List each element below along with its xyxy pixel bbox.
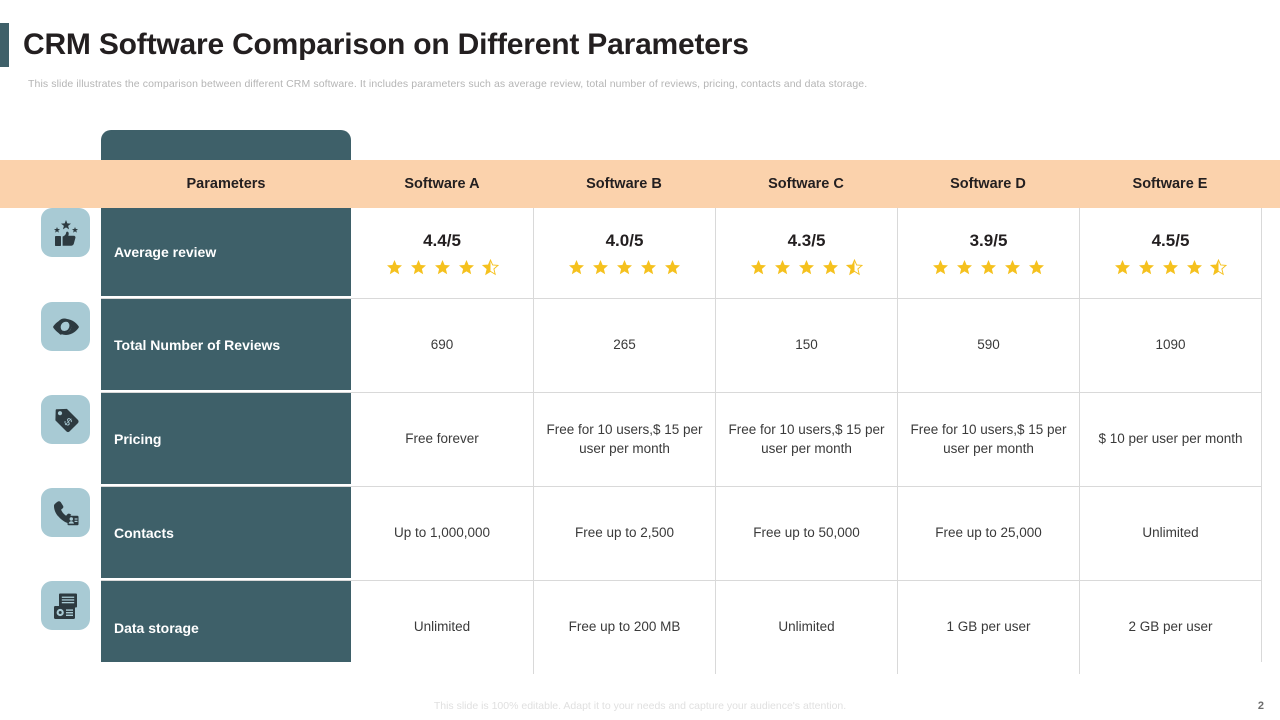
cell-total-reviews-c: 150 [715, 299, 897, 392]
cell-contacts-d: Free up to 25,000 [897, 487, 1079, 580]
title-accent-bar [0, 23, 9, 67]
star-rating [932, 259, 1045, 276]
table-row: Total Number of Reviews 690 265 150 590 … [101, 299, 1261, 393]
table-row: Average review 4.4/5 4.0/5 4.3/5 3.9/5 [101, 208, 1261, 299]
cell-data-storage-e: 2 GB per user [1079, 581, 1261, 674]
header-software-c: Software C [715, 176, 897, 192]
cell-average-review-b: 4.0/5 [533, 208, 715, 298]
cell-data-storage-c: Unlimited [715, 581, 897, 674]
table-right-border [1261, 208, 1262, 662]
score-value: 4.0/5 [606, 230, 644, 253]
cell-total-reviews-d: 590 [897, 299, 1079, 392]
star-rating [750, 259, 863, 276]
cell-data-storage-b: Free up to 200 MB [533, 581, 715, 674]
row-label-average-review: Average review [101, 208, 351, 298]
table-row: Pricing Free forever Free for 10 users,$… [101, 393, 1261, 487]
table-row: Data storage Unlimited Free up to 200 MB… [101, 581, 1261, 674]
score-value: 4.3/5 [788, 230, 826, 253]
document-storage-icon [41, 581, 90, 630]
score-value: 4.5/5 [1152, 230, 1190, 253]
page-title: CRM Software Comparison on Different Par… [0, 22, 1280, 68]
row-label-data-storage: Data storage [101, 581, 351, 674]
subtitle-text: This slide illustrates the comparison be… [28, 78, 1228, 90]
row-label-pricing: Pricing [101, 393, 351, 486]
cell-contacts-b: Free up to 2,500 [533, 487, 715, 580]
table-body: Average review 4.4/5 4.0/5 4.3/5 3.9/5 [101, 208, 1261, 674]
cell-average-review-d: 3.9/5 [897, 208, 1079, 298]
slide-root: CRM Software Comparison on Different Par… [0, 0, 1280, 720]
header-software-b: Software B [533, 176, 715, 192]
thumbs-up-stars-icon [41, 208, 90, 257]
price-tag-icon: $ [41, 395, 90, 444]
row-icon-column: $ [41, 208, 91, 674]
cell-contacts-e: Unlimited [1079, 487, 1261, 580]
cell-data-storage-d: 1 GB per user [897, 581, 1079, 674]
cell-contacts-c: Free up to 50,000 [715, 487, 897, 580]
cell-data-storage-a: Unlimited [351, 581, 533, 674]
table-row: Contacts Up to 1,000,000 Free up to 2,50… [101, 487, 1261, 581]
cell-total-reviews-e: 1090 [1079, 299, 1261, 392]
page-number: 2 [1258, 700, 1264, 712]
star-rating [386, 259, 499, 276]
cell-average-review-e: 4.5/5 [1079, 208, 1261, 298]
comparison-table: Parameters Software A Software B Softwar… [0, 130, 1280, 665]
cell-average-review-a: 4.4/5 [351, 208, 533, 298]
score-value: 4.4/5 [423, 230, 461, 253]
cell-pricing-a: Free forever [351, 393, 533, 486]
star-rating [1114, 259, 1227, 276]
eye-magnifier-icon [41, 302, 90, 351]
footer-note: This slide is 100% editable. Adapt it to… [0, 700, 1280, 712]
row-label-contacts: Contacts [101, 487, 351, 580]
header-software-d: Software D [897, 176, 1079, 192]
cell-total-reviews-b: 265 [533, 299, 715, 392]
cell-pricing-c: Free for 10 users,$ 15 per user per mont… [715, 393, 897, 486]
score-value: 3.9/5 [970, 230, 1008, 253]
cell-total-reviews-a: 690 [351, 299, 533, 392]
header-software-a: Software A [351, 176, 533, 192]
header-software-e: Software E [1079, 176, 1261, 192]
cell-contacts-a: Up to 1,000,000 [351, 487, 533, 580]
row-label-total-reviews: Total Number of Reviews [101, 299, 351, 392]
star-rating [568, 259, 681, 276]
header-parameters: Parameters [101, 176, 351, 192]
table-header-row: Parameters Software A Software B Softwar… [0, 160, 1280, 208]
cell-pricing-d: Free for 10 users,$ 15 per user per mont… [897, 393, 1079, 486]
cell-average-review-c: 4.3/5 [715, 208, 897, 298]
cell-pricing-b: Free for 10 users,$ 15 per user per mont… [533, 393, 715, 486]
title-text: CRM Software Comparison on Different Par… [23, 28, 749, 62]
phone-contact-icon [41, 488, 90, 537]
cell-pricing-e: $ 10 per user per month [1079, 393, 1261, 486]
